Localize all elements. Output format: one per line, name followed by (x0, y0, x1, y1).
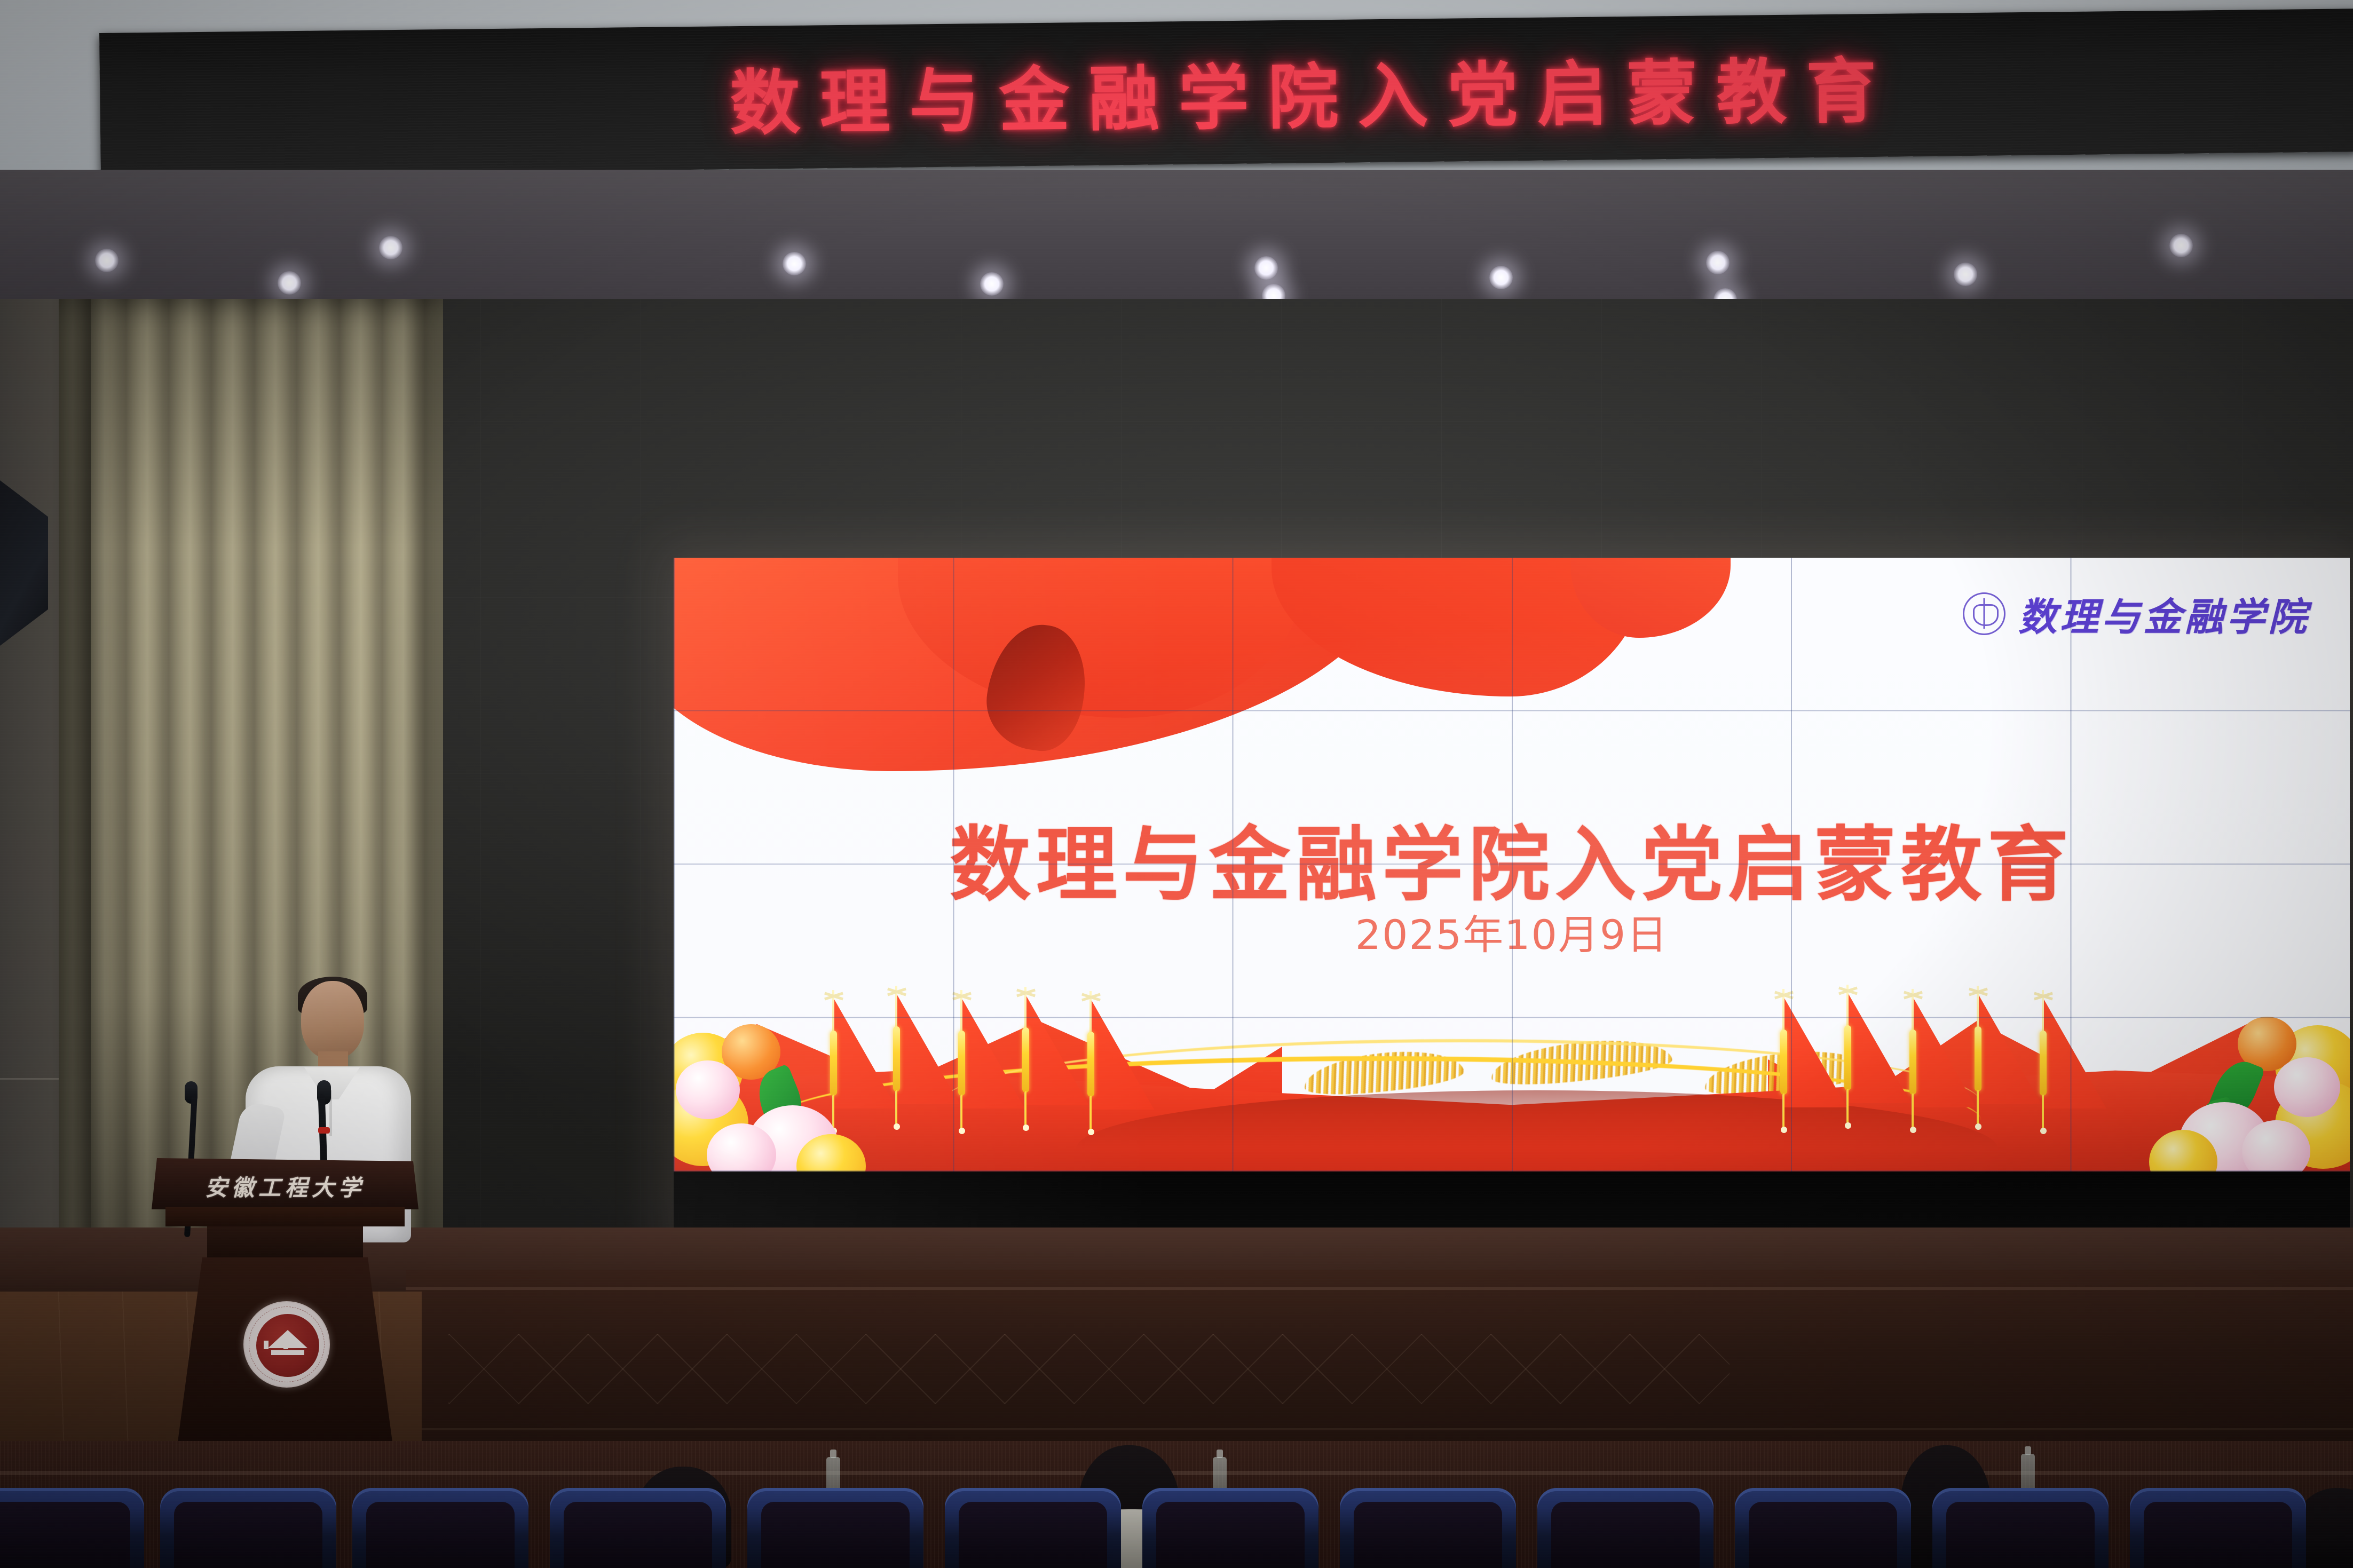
auditorium-scene: 数理与金融学院入党启蒙教育 数理与金融学院 数理与金融学院入党启蒙教 (0, 0, 2353, 1568)
ceiling-spotlight (1954, 263, 1977, 286)
ceiling-spotlight (379, 236, 402, 259)
podium-university-label: 安徽工程大学 (152, 1170, 419, 1202)
podium-lip (165, 1207, 405, 1226)
audience-seat (1340, 1488, 1516, 1568)
led-banner-text: 数理与金融学院入党启蒙教育 (729, 34, 1896, 149)
audience-seat (550, 1488, 726, 1568)
peony-cluster-right (2120, 1006, 2350, 1171)
microphone-indicator (318, 1127, 330, 1134)
slide-logo-label: 数理与金融学院 (2018, 585, 2310, 642)
slide-logo: 数理与金融学院 (1963, 585, 2310, 642)
ceiling-spotlight (980, 272, 1004, 296)
audience-seat (1932, 1488, 2109, 1568)
ceiling-spotlight (783, 252, 806, 275)
led-video-wall[interactable]: 数理与金融学院 数理与金融学院入党启蒙教育 2025年10月9日 (674, 558, 2350, 1252)
ceiling-spotlight (1489, 266, 1513, 289)
ceiling-spotlight (1254, 256, 1278, 280)
audience-seat (160, 1488, 336, 1568)
ceiling-spotlight (1706, 251, 1730, 274)
audience-seat (1537, 1488, 1714, 1568)
audience-seat (0, 1488, 144, 1568)
audience-desk-edge (0, 1471, 2353, 1475)
slide-bottom-scenery (674, 947, 2350, 1171)
audience-seat (1735, 1488, 1911, 1568)
ceiling-spotlight (2169, 234, 2193, 257)
university-seal-icon (1963, 592, 2005, 635)
audience-seat (352, 1488, 528, 1568)
speaker-head (301, 981, 364, 1059)
slide-title: 数理与金融学院入党启蒙教育 (674, 799, 2350, 916)
peony-cluster-left (674, 1011, 882, 1171)
stage-front-panel (406, 1270, 2353, 1452)
audience-seat (1142, 1488, 1318, 1568)
podium: 安徽工程大学 (152, 1158, 419, 1478)
ceiling-spotlight (278, 271, 301, 295)
stage-chevron-trim (448, 1334, 1730, 1404)
audience-seat (747, 1488, 923, 1568)
ceiling-spotlight (95, 249, 119, 272)
university-emblem-icon (243, 1301, 330, 1388)
presentation-slide: 数理与金融学院 数理与金融学院入党启蒙教育 2025年10月9日 (674, 558, 2350, 1171)
audience-seat (2130, 1488, 2306, 1568)
led-banner-board: 数理与金融学院入党启蒙教育 (99, 9, 2353, 176)
podium-neck (207, 1226, 363, 1258)
audience-seat (945, 1488, 1121, 1568)
